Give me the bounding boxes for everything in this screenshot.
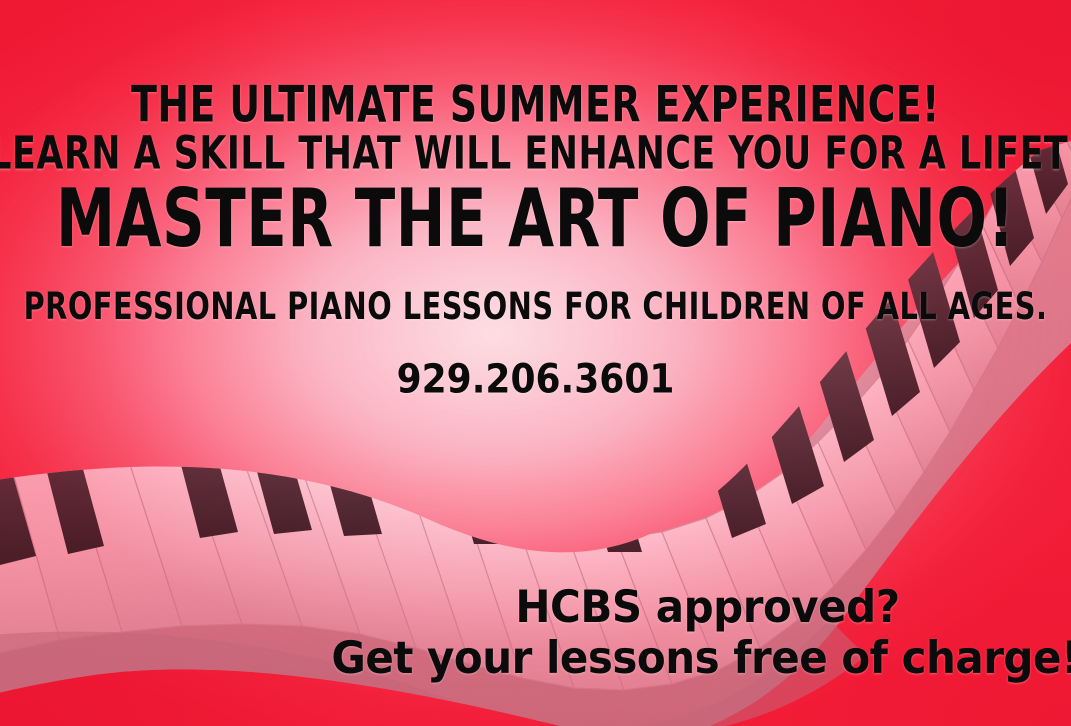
headline-line-2: LEARN A SKILL THAT WILL ENHANCE YOU FOR …: [0, 130, 1071, 176]
offer-line-1: HCBS approved?: [172, 585, 1071, 630]
piano-lessons-poster: THE ULTIMATE SUMMER EXPERIENCE! LEARN A …: [0, 0, 1071, 726]
subhead-description: PROFESSIONAL PIANO LESSONS FOR CHILDREN …: [0, 287, 1071, 324]
headline-line-1: THE ULTIMATE SUMMER EXPERIENCE!: [0, 80, 1071, 130]
offer-line-2: Get your lessons free of charge!: [170, 636, 1071, 681]
phone-number[interactable]: 929.206.3601: [0, 360, 1071, 400]
headline-line-3-main-title: MASTER THE ART OF PIANO!: [0, 179, 1071, 260]
